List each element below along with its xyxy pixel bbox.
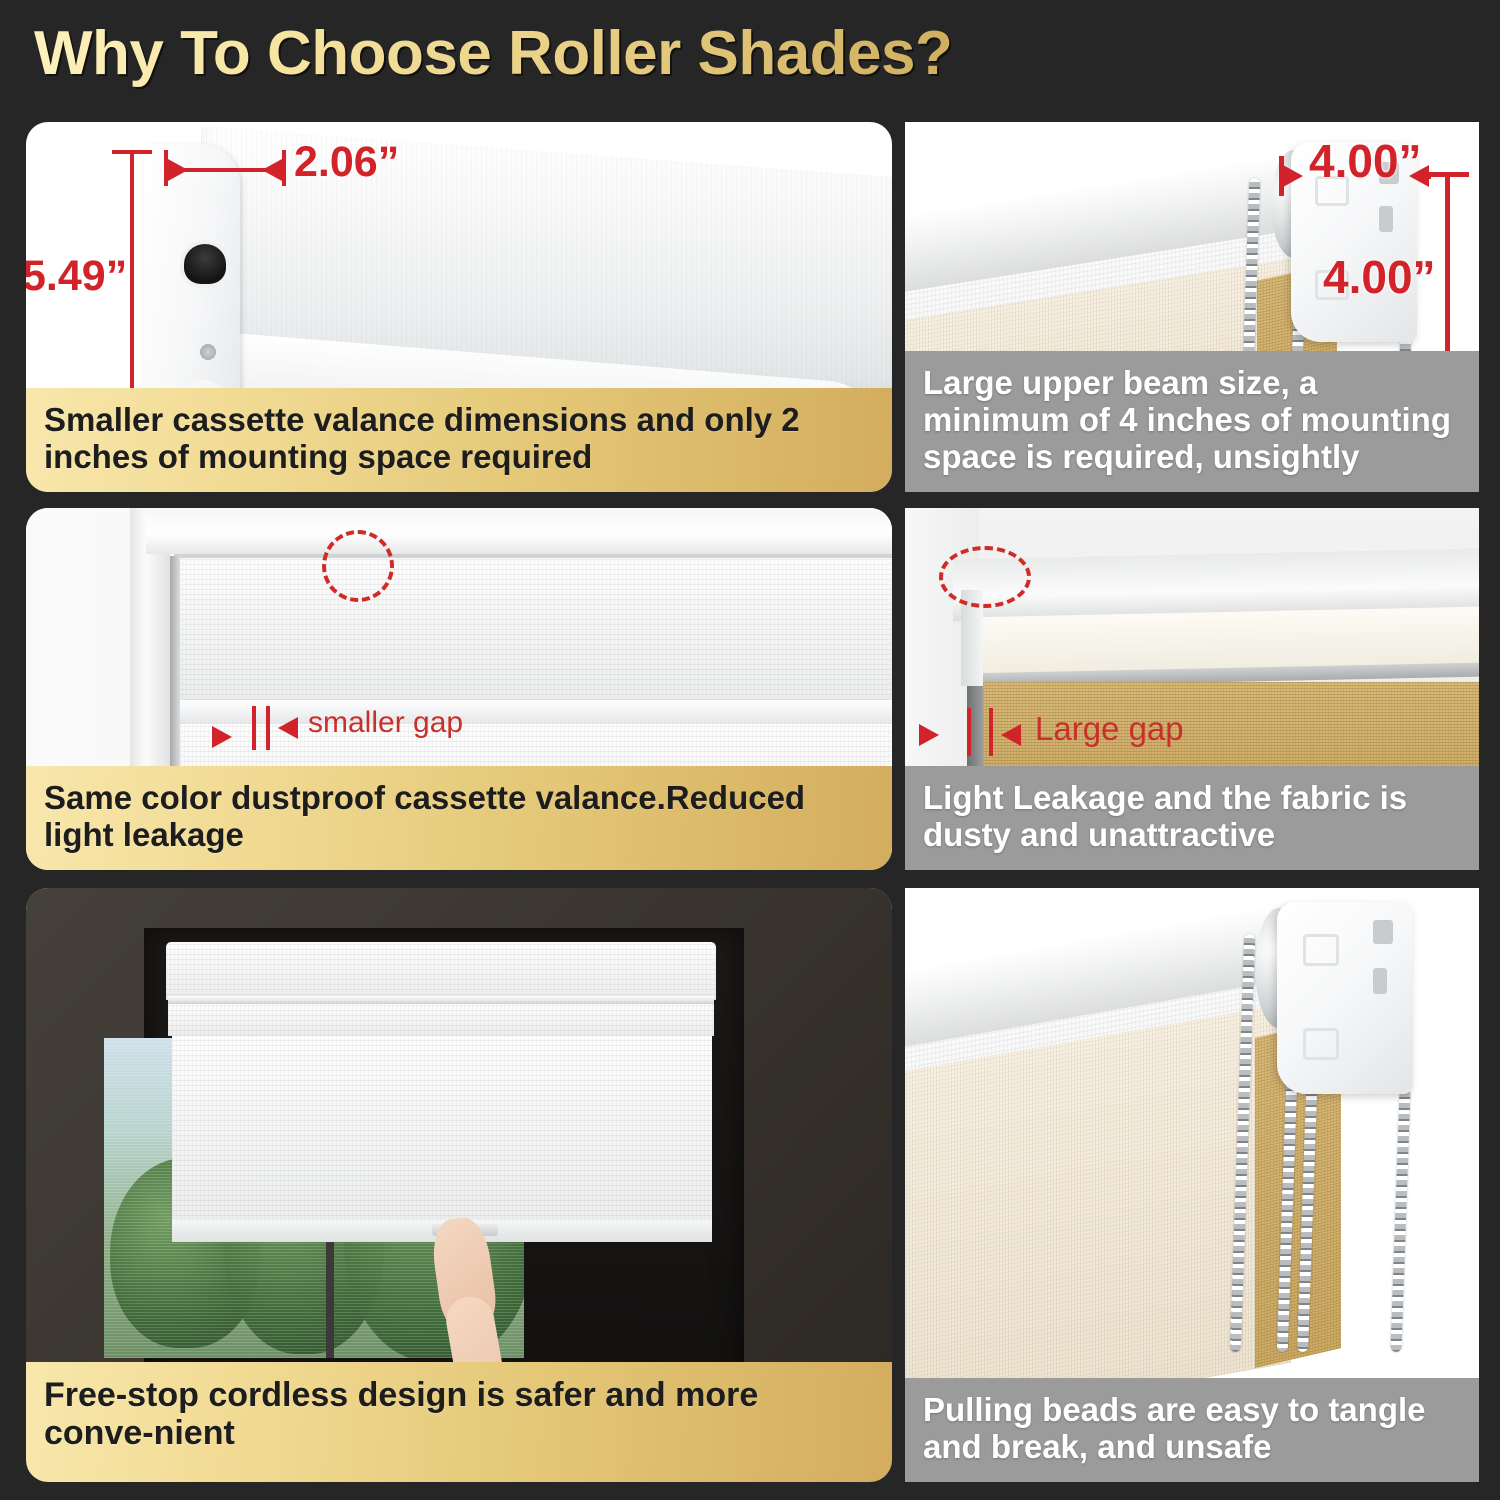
width-dimension-arrow-left xyxy=(168,159,188,181)
height-dimension-cap-top xyxy=(112,150,152,154)
cassette-end-bracket xyxy=(144,144,240,424)
gap-arrow-right xyxy=(278,717,298,739)
gap-tick-left xyxy=(252,706,256,750)
panel-1-smaller-cassette: 2.06” 5.49” Smaller cassette valance dim… xyxy=(26,122,892,492)
panel-5-caption: Free-stop cordless design is safer and m… xyxy=(26,1362,892,1482)
valance-shadow-line xyxy=(168,996,714,1004)
beam-height-dimension-line xyxy=(1445,174,1450,366)
width-dimension-label: 2.06” xyxy=(294,138,399,187)
comparison-grid: 2.06” 5.49” Smaller cassette valance dim… xyxy=(0,0,1500,1500)
beam-width-arrow-left xyxy=(1283,165,1303,187)
panel-3-dustproof-valance: smaller gap Same color dustproof cassett… xyxy=(26,508,892,870)
beam-height-cap-top xyxy=(1425,172,1469,177)
beam-height-label: 4.00” xyxy=(1323,250,1436,304)
gap-arrow-left xyxy=(212,726,232,748)
beige-fabric-panel xyxy=(905,1003,1291,1434)
gap-arrow-left xyxy=(919,724,939,746)
gap-arrow-right xyxy=(1001,724,1021,746)
panel-5-cordless-design: Free-stop cordless design is safer and m… xyxy=(26,888,892,1482)
gap-callout-label: Large gap xyxy=(1035,710,1184,748)
highlight-circle-icon xyxy=(939,546,1031,608)
window-head-trim xyxy=(146,508,892,554)
gap-tick-right xyxy=(989,708,993,756)
bracket-slot-icon xyxy=(184,244,226,284)
valance-cassette-front xyxy=(166,942,716,1000)
highlight-circle-icon xyxy=(322,530,394,602)
bracket-slot-top xyxy=(1373,920,1393,944)
cassette-valance-face xyxy=(174,554,892,700)
panel-2-large-beam: 4.00” 4.00” Large upper beam size, a min… xyxy=(905,122,1479,492)
beam-width-label: 4.00” xyxy=(1309,134,1422,188)
panel-2-caption: Large upper beam size, a minimum of 4 in… xyxy=(905,351,1479,492)
width-dimension-arrow-right xyxy=(262,159,282,181)
panel-3-caption: Same color dustproof cassette valance.Re… xyxy=(26,766,892,870)
gap-tick-left xyxy=(967,708,971,756)
bracket-slot-bottom xyxy=(1379,206,1393,232)
width-dimension-cap-right xyxy=(282,150,286,186)
panel-6-caption: Pulling beads are easy to tangle and bre… xyxy=(905,1378,1479,1482)
bead-chain-4 xyxy=(1390,1088,1410,1352)
shade-fabric-main xyxy=(172,1036,712,1226)
bracket-slot-bottom xyxy=(1373,968,1387,994)
gap-tick-right xyxy=(266,706,270,750)
panel-1-caption: Smaller cassette valance dimensions and … xyxy=(26,388,892,492)
panel-4-caption: Light Leakage and the fabric is dusty an… xyxy=(905,766,1479,870)
panel-6-pulling-beads: Pulling beads are easy to tangle and bre… xyxy=(905,888,1479,1482)
valance-lower-lip xyxy=(168,1004,714,1036)
height-dimension-line xyxy=(130,152,134,406)
bracket-screw-icon xyxy=(200,344,216,360)
panel-4-light-leakage: Large gap Light Leakage and the fabric i… xyxy=(905,508,1479,870)
bracket-emboss-bottom xyxy=(1303,1028,1339,1060)
gap-callout-label: smaller gap xyxy=(308,706,463,740)
mounting-bracket xyxy=(1277,902,1413,1094)
height-dimension-label: 5.49” xyxy=(26,252,127,301)
bracket-emboss-top xyxy=(1303,934,1339,966)
